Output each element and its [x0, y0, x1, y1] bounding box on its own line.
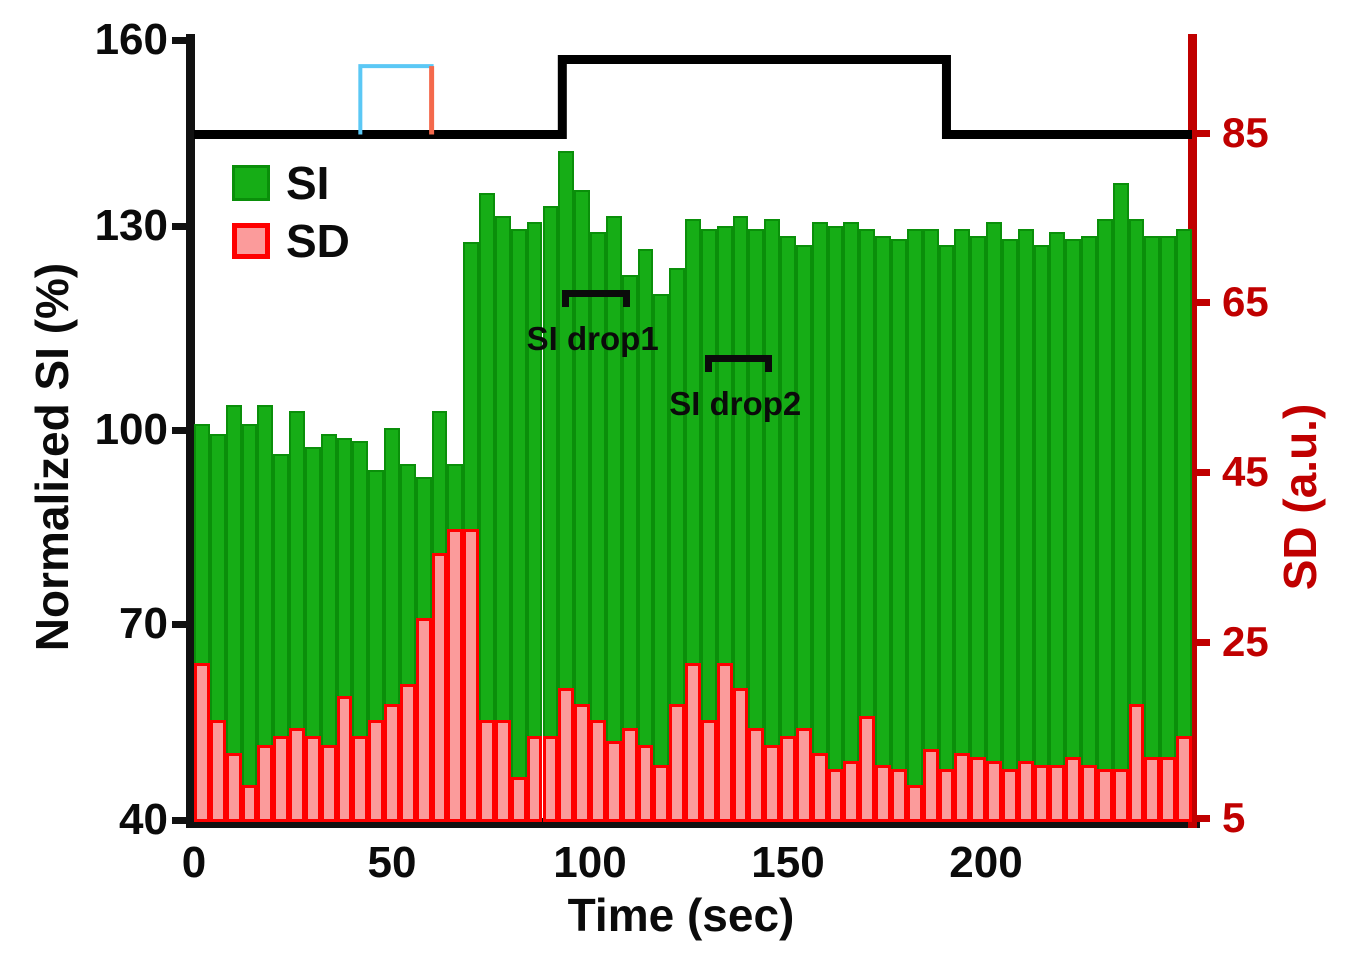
sd-bar: [638, 745, 654, 822]
legend-item-sd: SD: [232, 218, 350, 264]
legend: SI SD: [232, 160, 350, 276]
sd-bar: [1144, 757, 1160, 822]
left-tick-label-40: 40: [119, 795, 168, 845]
si-drop1-label: SI drop1: [527, 320, 659, 358]
sd-bar: [812, 753, 828, 822]
sd-bar: [368, 720, 384, 822]
right-tick-label-85: 85: [1222, 109, 1269, 157]
sd-bar: [226, 753, 242, 822]
x-tick-label-150: 150: [751, 838, 824, 888]
left-tick-mark: [172, 817, 194, 824]
right-tick-label-5: 5: [1222, 794, 1245, 842]
right-tick-label-45: 45: [1222, 448, 1269, 496]
sd-bar: [669, 704, 685, 822]
legend-label-si: SI: [286, 160, 329, 206]
sd-bar: [590, 720, 606, 822]
sd-bar: [701, 720, 717, 822]
sd-bar: [622, 728, 638, 822]
left-tick-mark: [172, 37, 194, 44]
sd-bar: [289, 728, 305, 822]
sd-bar: [1176, 736, 1192, 822]
left-tick-label-70: 70: [119, 599, 168, 649]
x-tick-label-0: 0: [182, 838, 206, 888]
sd-bar: [907, 785, 923, 822]
sd-bar: [463, 529, 479, 822]
sd-bar: [337, 696, 353, 822]
sd-bar: [321, 745, 337, 822]
sd-bar: [685, 663, 701, 822]
sd-bar: [432, 553, 448, 822]
sd-bar: [780, 736, 796, 822]
sd-bar: [447, 529, 463, 822]
legend-item-si: SI: [232, 160, 350, 206]
sd-bar: [1113, 769, 1129, 822]
sd-bar: [1065, 757, 1081, 822]
sd-bar: [242, 785, 258, 822]
x-tick-label-100: 100: [553, 838, 626, 888]
legend-swatch-sd-icon: [232, 223, 270, 259]
sd-bar: [764, 745, 780, 822]
sd-bar: [400, 684, 416, 822]
sd-bar: [606, 741, 622, 822]
sd-bar: [1049, 765, 1065, 822]
sd-bar: [479, 720, 495, 822]
chart-figure: 1601301007040856545255050100150200 Norma…: [0, 0, 1362, 958]
sd-bar: [305, 736, 321, 822]
sd-bar: [986, 761, 1002, 822]
right-tick-label-25: 25: [1222, 618, 1269, 666]
sd-bar: [257, 745, 273, 822]
right-tick-label-65: 65: [1222, 278, 1269, 326]
sd-bar: [352, 736, 368, 822]
sd-bar: [843, 761, 859, 822]
left-tick-label-130: 130: [95, 201, 168, 251]
sd-bar: [733, 688, 749, 822]
sd-bar: [273, 736, 289, 822]
sd-bar: [748, 728, 764, 822]
sd-bar: [384, 704, 400, 822]
left-tick-mark: [172, 223, 194, 230]
left-tick-mark: [172, 621, 194, 628]
sd-bar: [1081, 765, 1097, 822]
sd-bar: [574, 704, 590, 822]
y-axis-right-title: SD (a.u.): [1273, 237, 1327, 757]
left-tick-mark: [172, 427, 194, 434]
sd-bar: [796, 728, 812, 822]
sd-bar: [1160, 757, 1176, 822]
sd-bar: [717, 663, 733, 822]
x-tick-label-200: 200: [949, 838, 1022, 888]
legend-swatch-si-icon: [232, 165, 270, 201]
sd-bar: [1034, 765, 1050, 822]
sd-bar: [543, 736, 559, 822]
left-tick-label-160: 160: [95, 15, 168, 65]
sd-bar: [495, 720, 511, 822]
x-tick-label-50: 50: [368, 838, 417, 888]
left-tick-label-100: 100: [95, 405, 168, 455]
sd-bar: [923, 749, 939, 822]
x-axis-title: Time (sec): [0, 888, 1362, 942]
sd-bar: [1002, 769, 1018, 822]
sd-bar: [1018, 761, 1034, 822]
sd-bar: [859, 716, 875, 822]
sd-bar: [194, 663, 210, 822]
sd-bar: [653, 765, 669, 822]
sd-bar: [970, 757, 986, 822]
y-axis-left-title: Normalized SI (%): [25, 197, 79, 717]
legend-label-sd: SD: [286, 218, 350, 264]
plot-area: SI SD SI drop1 SI drop2: [194, 40, 1192, 822]
sd-bar: [939, 769, 955, 822]
sd-bar: [954, 753, 970, 822]
sd-bar: [416, 618, 432, 822]
si-drop2-label: SI drop2: [669, 385, 801, 423]
sd-bar: [558, 688, 574, 822]
sd-bar: [891, 769, 907, 822]
sd-bar: [875, 765, 891, 822]
sd-bar: [210, 720, 226, 822]
sd-bar: [511, 777, 527, 822]
sd-bar: [527, 736, 543, 822]
sd-bar: [1097, 769, 1113, 822]
sd-bar: [828, 769, 844, 822]
sd-bar: [1129, 704, 1145, 822]
sd-bar-series: [194, 40, 1192, 822]
